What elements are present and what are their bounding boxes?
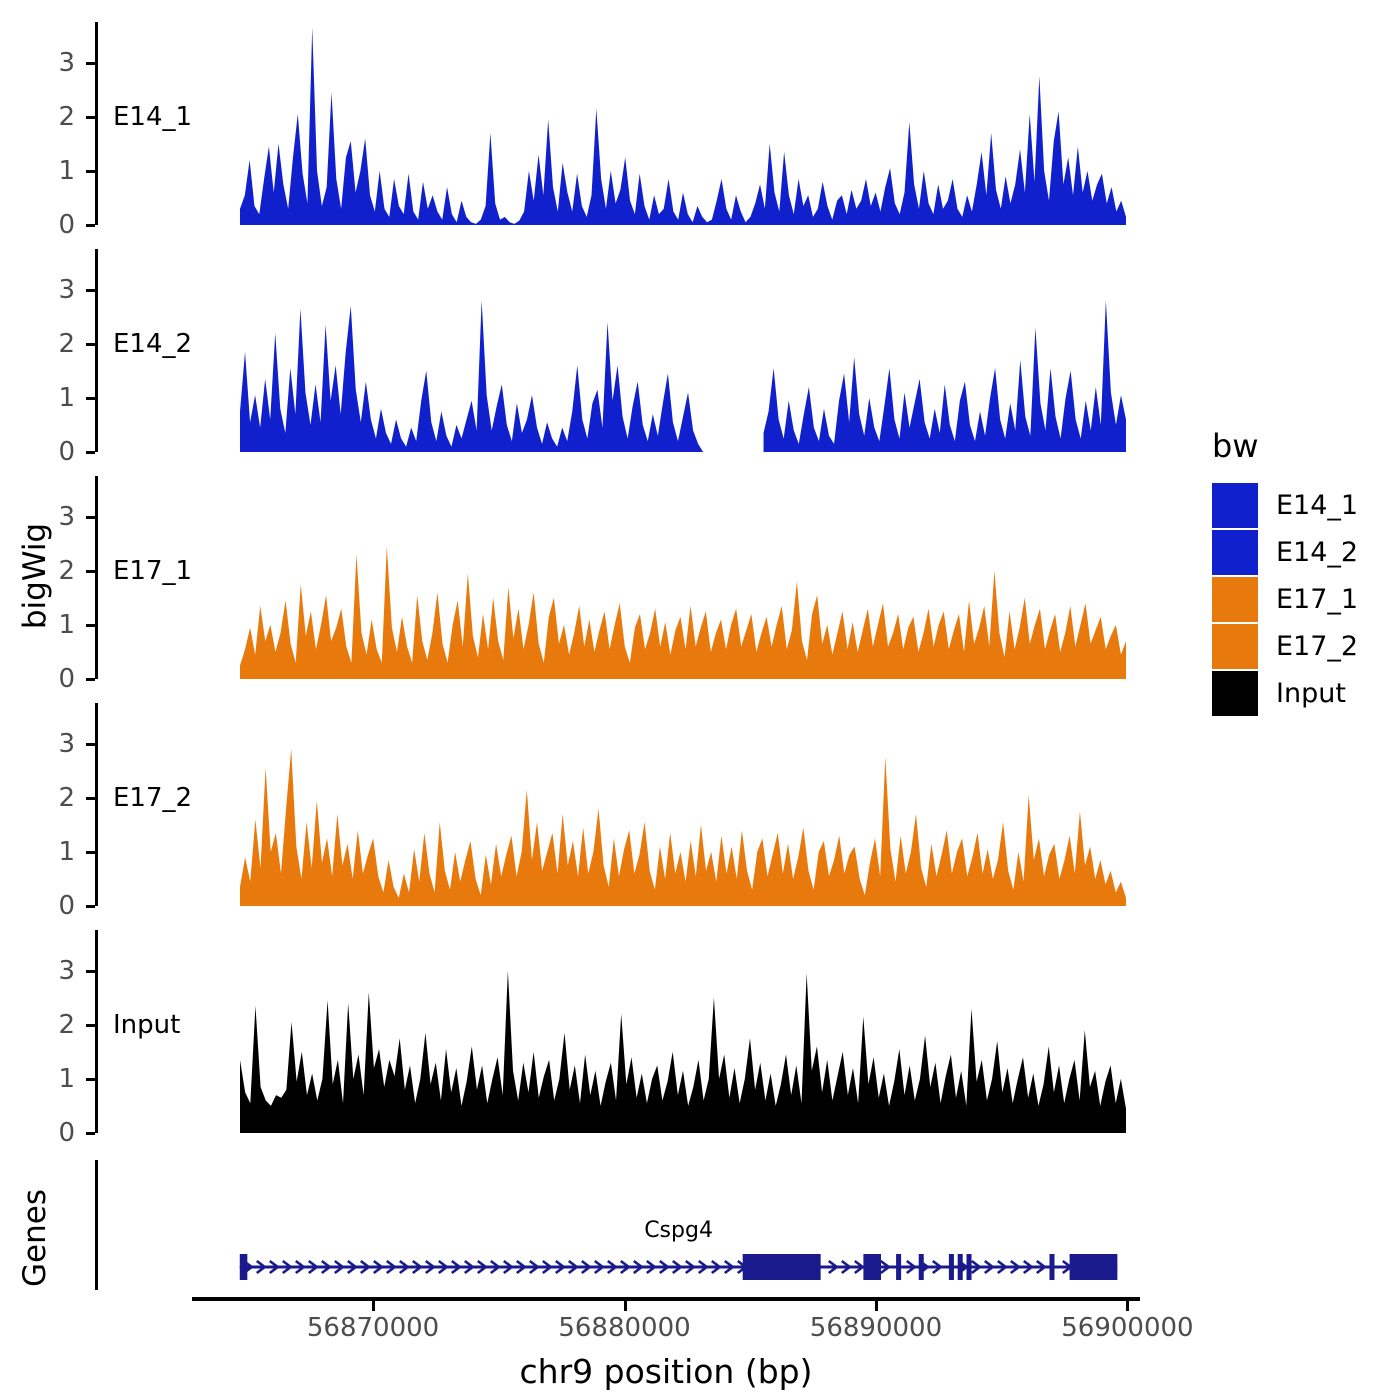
y-tick [86,743,95,746]
y-tick [86,797,95,800]
bigwig-panel-input: 0123Input [95,930,1136,1133]
legend-item-label: E17_2 [1276,633,1358,660]
gene-track-panel: Cspg4 [0,1160,1200,1290]
y-tick-label: 0 [20,212,75,238]
track-name-label: E17_2 [113,785,192,811]
x-tick [372,1301,375,1311]
x-tick-label: 56880000 [515,1315,735,1341]
legend-item-label: E17_1 [1276,586,1358,613]
plot-area-e17_1 [240,476,1126,679]
track-name-label: E14_2 [113,331,192,357]
y-tick [86,289,95,292]
exon-block [949,1254,954,1280]
y-tick [86,624,95,627]
y-tick-label: 1 [20,1066,75,1092]
bigwig-panel-e17_2: 0123E17_2 [95,703,1136,906]
legend-item-label: E14_2 [1276,539,1358,566]
y-tick [86,62,95,65]
y-tick-label: 2 [20,1012,75,1038]
exon-block [743,1254,821,1280]
y-tick-label: 0 [20,439,75,465]
exon-block [919,1254,924,1280]
signal-area [240,22,1126,225]
y-tick-label: 3 [20,731,75,757]
signal-area [240,476,1126,679]
exon-block [958,1254,963,1280]
exon-block [966,1254,971,1280]
exon-block [863,1254,881,1280]
bigwig-panel-e14_1: 0123E14_1 [95,22,1136,225]
x-tick [875,1301,878,1311]
y-tick-label: 3 [20,958,75,984]
legend-title: bw [1212,430,1258,462]
y-tick-label: 1 [20,612,75,638]
signal-area [240,703,1126,906]
figure-root: bigWig Genes 0123E14_10123E14_20123E17_1… [0,0,1400,1400]
legend-item-label: E14_1 [1276,492,1358,519]
y-tick [86,116,95,119]
exon-block [896,1254,901,1280]
x-tick-label: 56890000 [766,1315,986,1341]
gene-model-svg [0,1160,1200,1290]
legend-color-swatch [1212,671,1258,716]
y-tick-label: 3 [20,504,75,530]
y-tick [86,224,95,227]
x-tick-label: 56870000 [263,1315,483,1341]
legend-color-swatch [1212,483,1258,528]
legend-item-e17_1[interactable]: E17_1 [1212,577,1358,622]
track-name-label: E14_1 [113,104,192,130]
x-tick-label: 56900000 [1017,1315,1237,1341]
x-axis: 56870000568800005689000056900000 chr9 po… [0,1297,1400,1397]
legend-item-e17_2[interactable]: E17_2 [1212,624,1358,669]
y-tick [86,851,95,854]
plot-area-e14_1 [240,22,1126,225]
legend-item-label: Input [1276,680,1346,707]
y-tick-label: 3 [20,50,75,76]
track-name-label: Input [113,1012,180,1038]
exon-block [240,1254,248,1280]
y-tick [86,970,95,973]
legend-item-e14_2[interactable]: E14_2 [1212,530,1358,575]
legend-color-swatch [1212,577,1258,622]
y-tick [86,397,95,400]
y-tick [86,678,95,681]
y-tick-label: 1 [20,385,75,411]
y-tick-label: 2 [20,104,75,130]
exon-block [1070,1254,1118,1280]
panel-axis-line [95,22,98,225]
y-tick [86,1132,95,1135]
panel-axis-line [95,249,98,452]
y-tick [86,905,95,908]
y-tick-label: 2 [20,558,75,584]
y-tick [86,1078,95,1081]
y-tick [86,1024,95,1027]
exon-block [1049,1254,1054,1280]
y-tick [86,451,95,454]
legend-color-swatch [1212,530,1258,575]
y-tick-label: 1 [20,839,75,865]
x-tick [1126,1301,1129,1311]
plot-area-input [240,930,1126,1133]
y-tick-label: 0 [20,893,75,919]
legend-item-e14_1[interactable]: E14_1 [1212,483,1358,528]
x-tick [624,1301,627,1311]
y-tick-label: 0 [20,1120,75,1146]
y-tick-label: 3 [20,277,75,303]
x-axis-line [192,1297,1140,1301]
y-tick-label: 0 [20,666,75,692]
legend-item-input[interactable]: Input [1212,671,1346,716]
signal-area [240,930,1126,1133]
y-tick-label: 2 [20,331,75,357]
track-name-label: E17_1 [113,558,192,584]
panel-axis-line [95,476,98,679]
y-tick [86,170,95,173]
panel-axis-line [95,930,98,1133]
plot-area-e17_2 [240,703,1126,906]
plot-area-e14_2 [240,249,1126,452]
y-tick-label: 2 [20,785,75,811]
y-tick [86,516,95,519]
bigwig-panel-e14_2: 0123E14_2 [95,249,1136,452]
legend-color-swatch [1212,624,1258,669]
bigwig-panel-e17_1: 0123E17_1 [95,476,1136,679]
legend: bw E14_1E14_2E17_1E17_2Input [1212,430,1392,730]
y-tick [86,343,95,346]
y-tick [86,570,95,573]
panel-axis-line [95,703,98,906]
y-tick-label: 1 [20,158,75,184]
signal-area [240,249,1126,452]
x-axis-title: chr9 position (bp) [366,1355,966,1388]
